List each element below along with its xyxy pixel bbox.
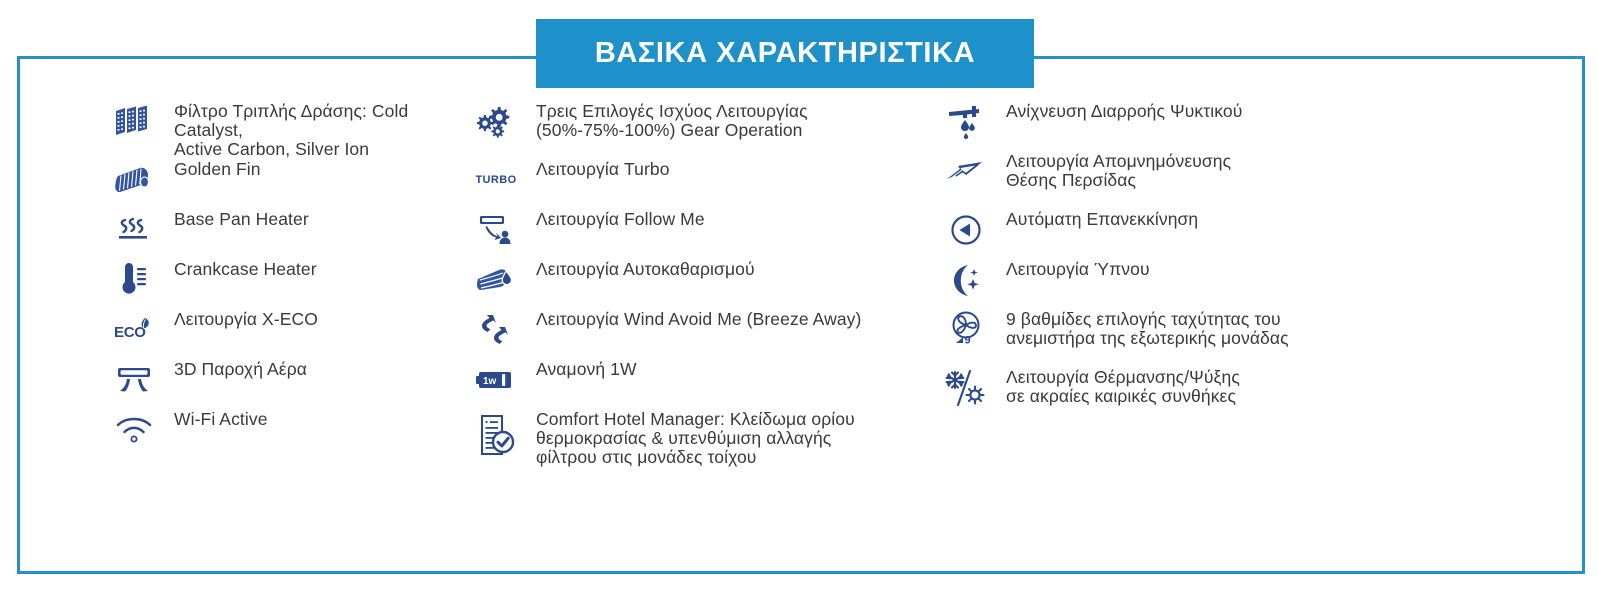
- feature-label: Comfort Hotel Manager: Κλείδωμα ορίου θε…: [522, 408, 855, 467]
- feature-row: Λειτουργία Θέρμανσης/Ψύξης σε ακραίες κα…: [940, 366, 1520, 424]
- turbo-icon-label: TURBO: [475, 174, 516, 186]
- feature-label: Wi-Fi Active: [160, 408, 268, 429]
- feature-label: Crankcase Heater: [160, 258, 317, 279]
- feature-row: Λειτουργία Απομνημόνευσης Θέσης Περσίδας: [940, 150, 1520, 208]
- page-title: ΒΑΣΙΚΑ ΧΑΡΑΚΤΗΡΙΣΤΙΚΑ: [595, 37, 975, 70]
- feature-row: Λειτουργία Wind Avoid Me (Breeze Away): [470, 308, 920, 358]
- feature-row: Τρεις Επιλογές Ισχύος Λειτουργίας (50%-7…: [470, 100, 920, 158]
- feature-label: Λειτουργία Wind Avoid Me (Breeze Away): [522, 308, 861, 329]
- feature-row: Base Pan Heater: [108, 208, 460, 258]
- feature-row: 9 9 βαθμίδες επιλογής ταχύτητας του ανεμ…: [940, 308, 1520, 366]
- feature-label: Λειτουργία Θέρμανσης/Ψύξης σε ακραίες κα…: [992, 366, 1240, 406]
- heating-cooling-extreme-icon: [940, 366, 992, 410]
- feature-label: Λειτουργία Αυτοκαθαρισμού: [522, 258, 755, 279]
- base-pan-heater-icon: [108, 208, 160, 252]
- feature-row: Ανίχνευση Διαρροής Ψυκτικού: [940, 100, 1520, 150]
- feature-label: Λειτουργία Απομνημόνευσης Θέσης Περσίδας: [992, 150, 1231, 190]
- column-2: Τρεις Επιλογές Ισχύος Λειτουργίας (50%-7…: [460, 100, 920, 478]
- column-3: Ανίχνευση Διαρροής Ψυκτικού Λειτουργία Α…: [920, 100, 1520, 424]
- feature-label: Λειτουργία Ύπνου: [992, 258, 1150, 279]
- feature-label: Ανίχνευση Διαρροής Ψυκτικού: [992, 100, 1242, 121]
- feature-row: 1w Αναμονή 1W: [470, 358, 920, 408]
- column-1: Φίλτρο Τριπλής Δράσης: Cold Catalyst, Ac…: [0, 100, 460, 458]
- follow-me-icon: [470, 208, 522, 252]
- feature-label: Λειτουργία Turbo: [522, 158, 670, 179]
- svg-text:1w: 1w: [483, 376, 497, 387]
- feature-label: Αναμονή 1W: [522, 358, 637, 379]
- header-banner: ΒΑΣΙΚΑ ΧΑΡΑΚΤΗΡΙΣΤΙΚΑ: [536, 19, 1034, 88]
- wifi-icon: [108, 408, 160, 452]
- feature-label: Αυτόματη Επανεκκίνηση: [992, 208, 1198, 229]
- feature-label: Base Pan Heater: [160, 208, 309, 229]
- feature-row: ECO Λειτουργία X-ECO: [108, 308, 460, 358]
- sleep-moon-icon: [940, 258, 992, 302]
- standby-1w-icon: 1w: [470, 358, 522, 402]
- refrigerant-leak-detection-icon: [940, 100, 992, 144]
- fan-speed-9-icon: 9: [940, 308, 992, 352]
- feature-row: Φίλτρο Τριπλής Δράσης: Cold Catalyst, Ac…: [108, 100, 460, 158]
- feature-label: Λειτουργία X-ECO: [160, 308, 318, 329]
- feature-columns: Φίλτρο Τριπλής Δράσης: Cold Catalyst, Ac…: [0, 100, 1598, 478]
- feature-row: Λειτουργία Ύπνου: [940, 258, 1520, 308]
- wind-avoid-me-icon: [470, 308, 522, 352]
- crankcase-heater-icon: [108, 258, 160, 302]
- feature-row: Golden Fin: [108, 158, 460, 208]
- turbo-icon: TURBO: [470, 158, 522, 202]
- svg-text:ECO: ECO: [114, 324, 146, 341]
- feature-label: 9 βαθμίδες επιλογής ταχύτητας του ανεμισ…: [992, 308, 1289, 348]
- feature-row: Wi-Fi Active: [108, 408, 460, 458]
- feature-label: 3D Παροχή Αέρα: [160, 358, 307, 379]
- self-clean-icon: [470, 258, 522, 302]
- feature-row: Λειτουργία Follow Me: [470, 208, 920, 258]
- 3d-airflow-icon: [108, 358, 160, 402]
- gears-icon: [470, 100, 522, 144]
- golden-fin-icon: [108, 158, 160, 202]
- feature-row: Λειτουργία Αυτοκαθαρισμού: [470, 258, 920, 308]
- feature-row: TURBO Λειτουργία Turbo: [470, 158, 920, 208]
- feature-label: Λειτουργία Follow Me: [522, 208, 705, 229]
- svg-text:9: 9: [965, 335, 971, 347]
- feature-label: Golden Fin: [160, 158, 261, 179]
- feature-panel: ΒΑΣΙΚΑ ΧΑΡΑΚΤΗΡΙΣΤΙΚΑ: [0, 0, 1598, 594]
- feature-row: Αυτόματη Επανεκκίνηση: [940, 208, 1520, 258]
- triple-filter-icon: [108, 100, 160, 144]
- feature-row: Crankcase Heater: [108, 258, 460, 308]
- eco-leaf-icon: ECO: [108, 308, 160, 352]
- feature-label: Φίλτρο Τριπλής Δράσης: Cold Catalyst, Ac…: [160, 100, 460, 159]
- feature-row: Comfort Hotel Manager: Κλείδωμα ορίου θε…: [470, 408, 920, 478]
- hotel-manager-icon: [470, 408, 522, 464]
- louver-memory-icon: [940, 150, 992, 194]
- auto-restart-icon: [940, 208, 992, 252]
- feature-label: Τρεις Επιλογές Ισχύος Λειτουργίας (50%-7…: [522, 100, 808, 140]
- feature-row: 3D Παροχή Αέρα: [108, 358, 460, 408]
